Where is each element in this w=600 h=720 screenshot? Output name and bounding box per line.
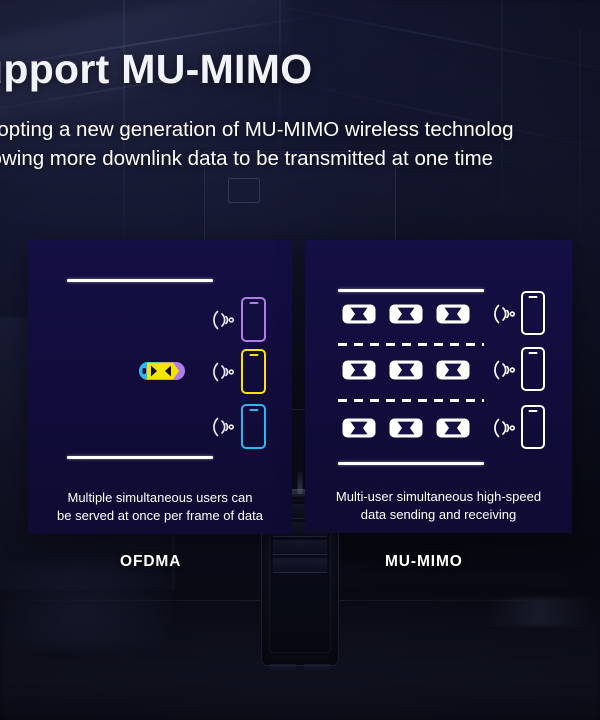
smartphone-icon [241, 297, 266, 342]
smartphone-icon [521, 405, 545, 449]
page-subtitle-line-1: dopting a new generation of MU-MIMO wire… [0, 115, 514, 144]
phone-speaker [529, 410, 538, 412]
road-line-solid [67, 279, 213, 282]
car-icon [389, 359, 423, 381]
car-icon [436, 303, 470, 325]
wifi-arcs-icon [208, 357, 238, 387]
ofdma-caption: Multiple simultaneous users can be serve… [34, 489, 286, 524]
wifi-arcs-icon [208, 412, 238, 442]
smartphone-icon [521, 291, 545, 335]
car-icon [342, 303, 376, 325]
ofdma-caption-line-2: be served at once per frame of data [34, 507, 286, 525]
page-subtitle: dopting a new generation of MU-MIMO wire… [0, 115, 514, 173]
car-icon [436, 417, 470, 439]
phone-speaker [529, 352, 538, 354]
car-icon [389, 303, 423, 325]
phone-speaker [249, 302, 258, 304]
wifi-arcs-icon [489, 299, 519, 329]
phone-speaker [529, 296, 538, 298]
wifi-arcs-icon [489, 413, 519, 443]
ofdma-caption-line-1: Multiple simultaneous users can [34, 489, 286, 507]
page-subtitle-line-2: lowing more downlink data to be transmit… [0, 144, 514, 173]
car-icon [342, 417, 376, 439]
wifi-arcs-icon [208, 305, 238, 335]
mumimo-label: MU-MIMO [385, 553, 463, 571]
smartphone-icon [241, 404, 266, 449]
road-line-dashed [338, 343, 484, 346]
road-line-solid [67, 456, 213, 459]
car-icon [342, 359, 376, 381]
mumimo-caption-line-1: Multi-user simultaneous high-speed [311, 488, 566, 506]
ofdma-panel: Multiple simultaneous users can be serve… [28, 240, 292, 534]
mumimo-panel: Multi-user simultaneous high-speed data … [305, 240, 572, 533]
phone-speaker [249, 409, 258, 411]
hero-banner: upport MU-MIMO dopting a new generation … [0, 0, 600, 720]
phone-speaker [249, 354, 258, 356]
road-line-dashed [338, 399, 484, 402]
car-icon-colored [138, 359, 186, 383]
ofdma-label: OFDMA [120, 553, 181, 571]
mumimo-caption-line-2: data sending and receiving [311, 506, 566, 524]
road-line-solid [338, 462, 484, 465]
wifi-arcs-icon [489, 355, 519, 385]
smartphone-icon [521, 347, 545, 391]
car-icon [436, 359, 470, 381]
mumimo-caption: Multi-user simultaneous high-speed data … [311, 488, 566, 523]
car-icon [389, 417, 423, 439]
road-line-solid [338, 289, 484, 292]
smartphone-icon [241, 349, 266, 394]
page-title: upport MU-MIMO [0, 46, 312, 93]
